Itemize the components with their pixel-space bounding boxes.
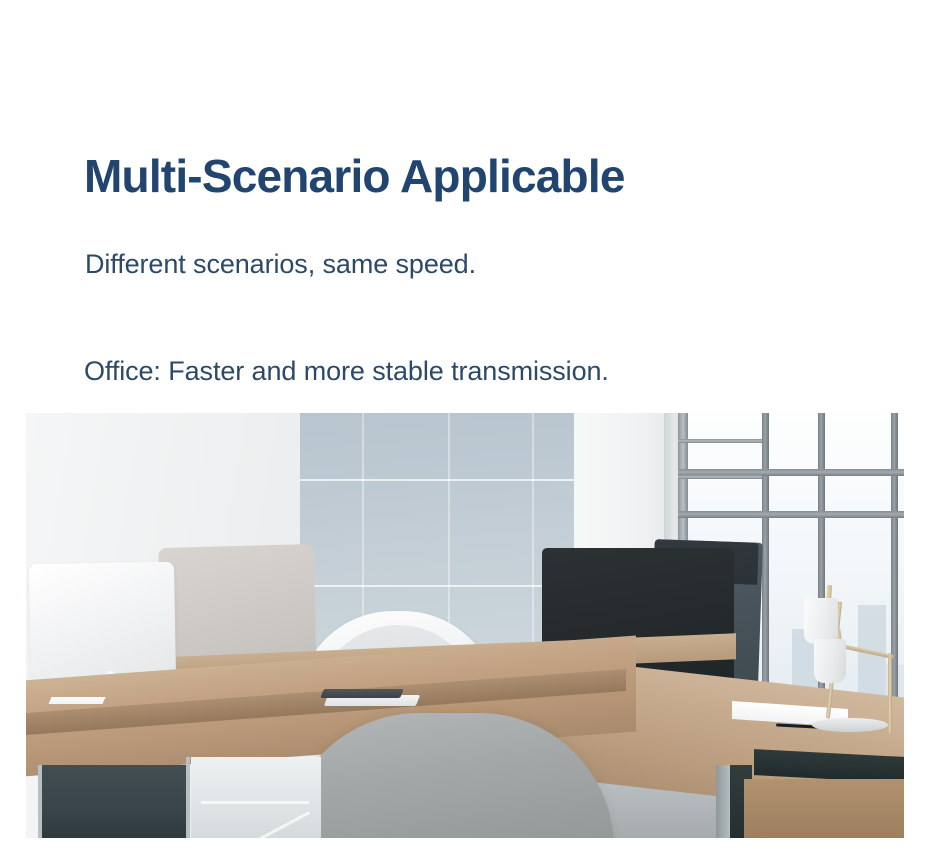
glass-partition [191, 757, 321, 838]
section-subtitle: Different scenarios, same speed. [85, 248, 476, 280]
panel-divider [186, 757, 190, 838]
window-rail [678, 475, 762, 479]
monitor-rear-white [29, 562, 176, 687]
lamp-base [812, 718, 888, 732]
paper-sheet [48, 697, 105, 704]
tile-seam [300, 585, 582, 587]
window-rail [678, 439, 762, 443]
office-workspace-photo [26, 413, 904, 838]
panel-edge [716, 765, 730, 838]
glass-reflection [201, 801, 309, 804]
cabinet-panel-wood [744, 779, 904, 838]
scenario-description-office: Office: Faster and more stable transmiss… [84, 355, 609, 387]
cabinet-panel-dark [42, 765, 188, 838]
panel-divider [38, 765, 42, 838]
promo-section: Multi-Scenario Applicable Different scen… [0, 0, 930, 863]
office-scene [26, 413, 904, 838]
page-title: Multi-Scenario Applicable [84, 152, 625, 200]
pen-holder-upper [804, 598, 838, 644]
pen-holder-lower [814, 639, 846, 683]
lamp-arm [888, 653, 892, 733]
window-mullion-horizontal [678, 511, 904, 518]
laptop-closed [320, 689, 404, 698]
glass-reflection [256, 811, 310, 838]
tile-seam [300, 479, 582, 481]
